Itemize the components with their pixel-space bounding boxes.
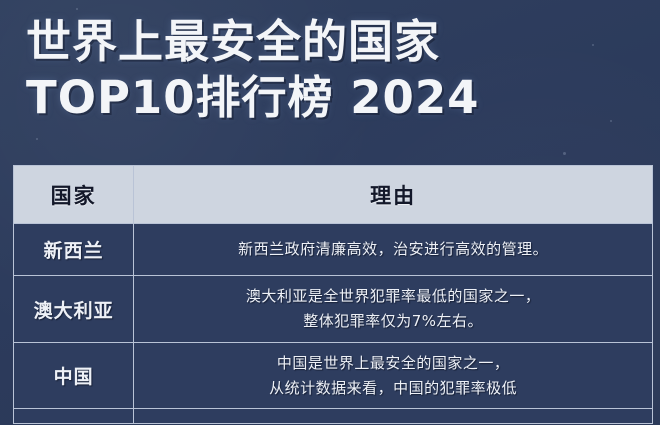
cell-reason: 中国是世界上最安全的国家之一， 从统计数据来看，中国的犯罪率极低 bbox=[134, 343, 653, 409]
cell-country: 新西兰 bbox=[14, 224, 134, 276]
background-speck bbox=[563, 152, 566, 155]
reason-line: 整体犯罪率仅为7%左右。 bbox=[134, 309, 652, 334]
table-header: 国家 理由 bbox=[14, 166, 653, 224]
background-speck bbox=[76, 8, 78, 10]
cell-country: 中国 bbox=[14, 343, 134, 409]
background-speck bbox=[36, 138, 38, 140]
poster-title: 世界上最安全的国家 TOP10排行榜 2024 bbox=[26, 18, 626, 121]
table-header-row: 国家 理由 bbox=[14, 166, 653, 224]
column-header-country: 国家 bbox=[14, 166, 134, 224]
ranking-table: 国家 理由 新西兰 新西兰政府清廉高效，治安进行高效的管理。 澳大利亚 澳大利亚… bbox=[13, 165, 653, 424]
table-row: 澳大利亚 澳大利亚是全世界犯罪率最低的国家之一， 整体犯罪率仅为7%左右。 bbox=[14, 276, 653, 343]
poster-root: 世界上最安全的国家 TOP10排行榜 2024 国家 理由 新西兰 新西兰政府清… bbox=[0, 0, 660, 425]
table-row: 新西兰 新西兰政府清廉高效，治安进行高效的管理。 bbox=[14, 224, 653, 276]
cell-country bbox=[14, 409, 134, 424]
title-line-main: 世界上最安全的国家 bbox=[26, 18, 626, 66]
ranking-table-container: 国家 理由 新西兰 新西兰政府清廉高效，治安进行高效的管理。 澳大利亚 澳大利亚… bbox=[13, 165, 653, 424]
reason-line: 新西兰政府清廉高效，治安进行高效的管理。 bbox=[134, 237, 652, 262]
reason-line: 从统计数据来看，中国的犯罪率极低 bbox=[134, 376, 652, 401]
cell-reason bbox=[134, 409, 653, 424]
reason-line: 中国是世界上最安全的国家之一， bbox=[134, 351, 652, 376]
cell-reason: 澳大利亚是全世界犯罪率最低的国家之一， 整体犯罪率仅为7%左右。 bbox=[134, 276, 653, 343]
title-line-sub: TOP10排行榜 2024 bbox=[26, 74, 626, 122]
column-header-reason: 理由 bbox=[134, 166, 653, 224]
table-row: 中国 中国是世界上最安全的国家之一， 从统计数据来看，中国的犯罪率极低 bbox=[14, 343, 653, 409]
reason-line: 澳大利亚是全世界犯罪率最低的国家之一， bbox=[134, 284, 652, 309]
cell-reason: 新西兰政府清廉高效，治安进行高效的管理。 bbox=[134, 224, 653, 276]
cell-country: 澳大利亚 bbox=[14, 276, 134, 343]
table-row-partial bbox=[14, 409, 653, 424]
table-body: 新西兰 新西兰政府清廉高效，治安进行高效的管理。 澳大利亚 澳大利亚是全世界犯罪… bbox=[14, 224, 653, 424]
